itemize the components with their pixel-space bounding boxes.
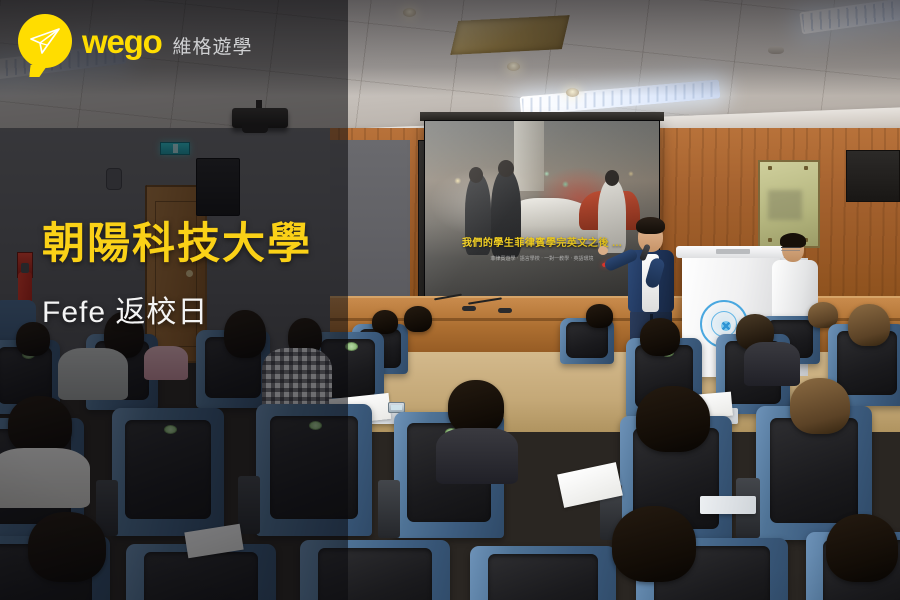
audience-shoulders [144,346,188,380]
audience-shoulders [0,448,90,508]
audience-head [28,512,106,582]
audience-shoulders [436,428,518,484]
audience-head [826,514,898,582]
brand-text: wego 維格遊學 [82,25,253,58]
downlight-icon [403,8,416,17]
seat-number-badge [345,342,358,351]
chair [470,546,616,600]
audience-shoulders [58,348,128,400]
audience [0,300,900,600]
seat-number-badge [164,425,177,434]
brand-name: wego [82,25,162,58]
presenter-hand [598,246,608,255]
chair-armrest [378,480,400,538]
chair [256,404,372,536]
chair-back [318,548,432,600]
chair [300,540,450,600]
audience-head [586,304,613,328]
board-pin [804,166,808,170]
smoke-detector-icon [768,46,784,54]
page-title: 朝陽科技大學 [42,222,312,267]
audience-head [404,306,432,332]
glasses-icon [781,247,800,251]
chair-back [270,416,358,519]
presenter-hair [636,217,665,234]
chair-armrest [238,476,260,534]
audience-head [790,378,850,434]
downlight-icon [507,62,520,71]
wall-speaker-icon [196,158,240,216]
audience-head [224,310,266,358]
downlight-icon [566,88,579,97]
audience-head [448,380,504,434]
audience-head [636,386,710,452]
audience-shoulders [744,342,800,386]
banner-image: 我們的學生菲律賓學完英文之後 ... 菲律賓遊學 ‧ 語言學校 ‧ 一對一教學 … [0,0,900,600]
exit-sign-icon [160,142,190,155]
audience-head [640,318,680,356]
seated-staff-hair [780,233,806,248]
brand-name-cn: 維格遊學 [173,38,253,57]
wall-speaker-icon [106,168,122,190]
chair [112,408,224,536]
ceiling-projector-icon [232,108,288,128]
audience-head [8,396,72,454]
audience-shoulders [262,348,332,410]
podium-control-slot [716,249,750,254]
audience-head [372,310,398,334]
audience-head [612,506,696,582]
ceiling-access-hatch [450,15,569,55]
door-knob-icon [186,270,193,277]
wall-panel [846,150,900,202]
fold-out-desk [700,496,756,514]
brand-logo[interactable]: wego 維格遊學 [18,14,253,68]
page-subtitle: Fefe 返校日 [42,296,208,329]
chair-back [144,552,258,600]
audience-head [848,304,890,346]
chair-back [488,554,599,600]
chair-back [125,420,210,520]
board-pin [768,166,772,170]
paper-plane-icon [18,14,72,68]
